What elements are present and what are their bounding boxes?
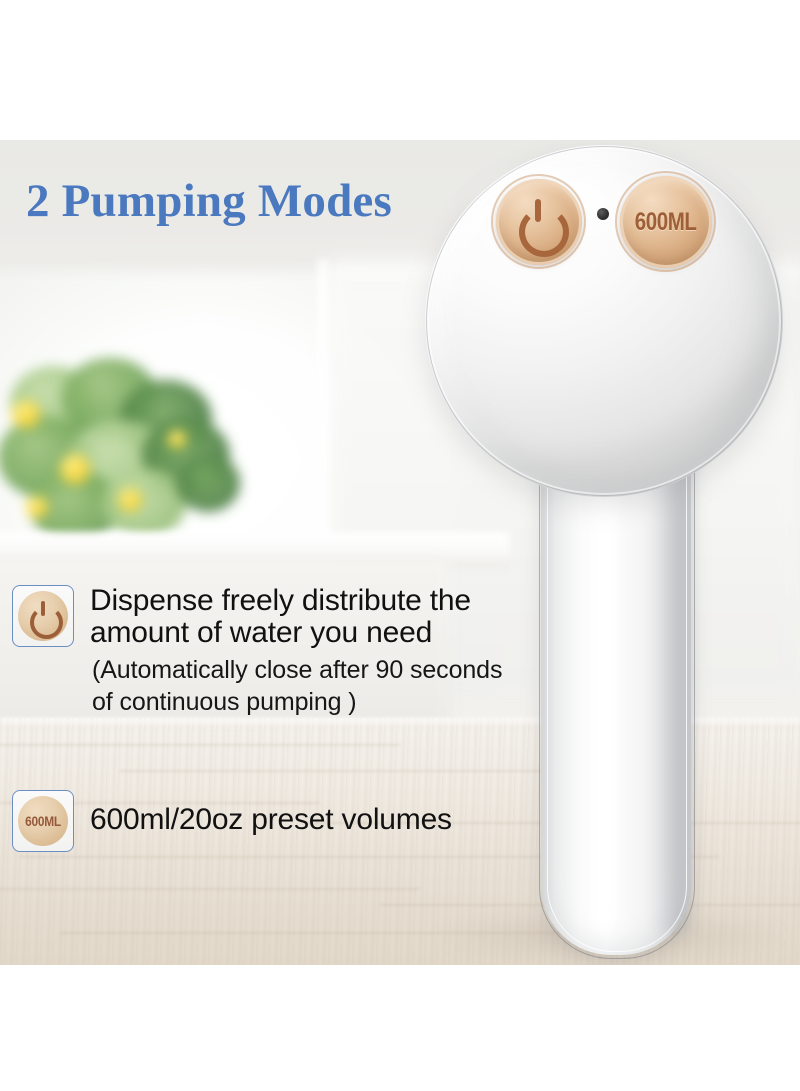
feature-row-preset-volume: 600ML 600ml/20oz preset volumes: [12, 790, 452, 852]
feature-headline-dispense: Dispense freely distribute the amount of…: [90, 585, 471, 649]
device-power-button[interactable]: [496, 179, 582, 265]
product-feature-image: 600ML 2 Pumping Modes Dispense freely di…: [0, 0, 800, 1091]
power-badge-circle: [18, 591, 68, 641]
power-icon: [28, 601, 58, 631]
volume-badge-circle: 600ML: [18, 796, 68, 846]
power-icon: [516, 199, 562, 245]
feature-row-dispense: Dispense freely distribute the amount of…: [12, 585, 471, 649]
feature-headline-preset-volume: 600ml/20oz preset volumes: [90, 790, 452, 836]
power-badge: [12, 585, 74, 647]
feature-text-dispense: Dispense freely distribute the amount of…: [90, 585, 471, 649]
feature-text-preset-volume: 600ml/20oz preset volumes: [90, 790, 452, 836]
volume-badge: 600ML: [12, 790, 74, 852]
device-600ml-button[interactable]: 600ML: [620, 176, 712, 268]
page-title: 2 Pumping Modes: [26, 178, 392, 225]
device-600ml-button-label: 600ML: [635, 208, 697, 237]
led-indicator: [597, 208, 609, 220]
feature-subtext-dispense: (Automatically close after 90 seconds of…: [92, 655, 502, 718]
volume-badge-label: 600ML: [25, 813, 61, 829]
